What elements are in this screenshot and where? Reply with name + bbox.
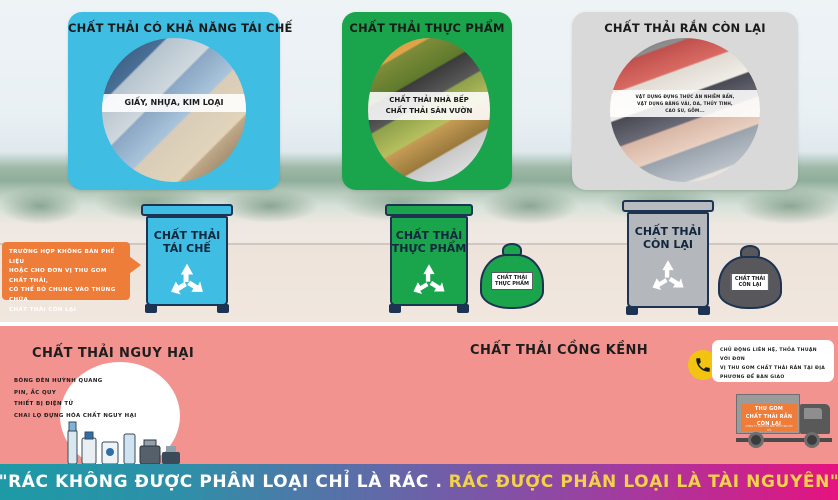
bin-food-wheel-left — [389, 304, 401, 313]
hazardous-title: CHẤT THẢI NGUY HẠI — [32, 346, 194, 361]
bin-recyclable: CHẤT THẢI TÁI CHẾ — [141, 204, 233, 308]
residual-photo-caption-line3: CAO SU, GỖM... — [610, 107, 760, 114]
collection-truck: THU GOM CHẤT THẢI RẮN CÒN LẠI CÔNG TY DỊ… — [736, 392, 836, 454]
bin-food-wheel-right — [457, 304, 469, 313]
recycle-icon — [648, 259, 688, 295]
bin-recyclable-body: CHẤT THẢI TÁI CHẾ — [146, 216, 228, 306]
recycle-icon — [409, 263, 449, 299]
food-waste-photo: CHẤT THẢI NHÀ BẾP CHẤT THẢI SÂN VƯỜN — [368, 38, 490, 182]
phone-icon — [694, 356, 712, 374]
hazardous-waste-illustration — [62, 412, 186, 470]
truck-cargo-box: THU GOM CHẤT THẢI RẮN CÒN LẠI CÔNG TY DỊ… — [736, 394, 800, 434]
bulky-waste-note: CHỦ ĐỘNG LIÊN HỆ, THỎA THUẬN VỚI ĐƠN VỊ … — [712, 340, 834, 382]
card-residual-title: CHẤT THẢI RẮN CÒN LẠI — [572, 21, 798, 35]
bulky-title: CHẤT THẢI CỒNG KỀNH — [470, 343, 648, 358]
hazardous-item: THIẾT BỊ ĐIỆN TỬ — [14, 399, 137, 411]
truck-cab — [800, 404, 830, 434]
callout-line-1: TRƯỜNG HỢP KHÔNG BÁN PHẾ LIỆU — [9, 248, 123, 267]
bulky-note-line3: PHƯƠNG ĐỂ BÀN GIAO — [720, 373, 828, 382]
truck-banner-line1: THU GOM — [742, 406, 796, 414]
bulky-note-line2: VỊ THU GOM CHẤT THẢI RẮN TẠI ĐỊA — [720, 364, 828, 373]
hazardous-item: PIN, ẮC QUY — [14, 388, 137, 400]
food-photo-caption-line1: CHẤT THẢI NHÀ BẾP — [368, 95, 490, 106]
slogan-part-1: "RÁC KHÔNG ĐƯỢC PHÂN LOẠI CHỈ LÀ RÁC . — [0, 472, 443, 492]
top-scene: CHẤT THẢI CÓ KHẢ NĂNG TÁI CHẾ GIẤY, NHỰA… — [0, 0, 838, 322]
residual-waste-photo: VẬT DỤNG ĐỰNG THỨC ĂN NHIỄM BẨN, VẬT DỤN… — [610, 38, 760, 182]
bin-residual-body: CHẤT THẢI CÒN LẠI — [627, 212, 709, 308]
callout-recyclable-note: TRƯỜNG HỢP KHÔNG BÁN PHẾ LIỆU HOẶC CHO Đ… — [2, 242, 130, 300]
truck-wheel-rear — [748, 432, 764, 448]
bin-residual-label: CHẤT THẢI CÒN LẠI — [635, 225, 701, 251]
bin-residual-lid — [622, 200, 714, 212]
bin-residual: CHẤT THẢI CÒN LẠI — [622, 200, 714, 310]
residual-photo-caption-line2: VẬT DỤNG BẰNG VẢI, DA, THỦY TINH, — [610, 100, 760, 107]
bin-food: CHẤT THẢI THỰC PHẨM — [385, 204, 473, 308]
bin-residual-wheel-left — [626, 306, 638, 315]
recyclable-photo-caption: GIẤY, NHỰA, KIM LOẠI — [102, 94, 246, 112]
bin-recyclable-lid — [141, 204, 233, 216]
callout-line-3: CÓ THỂ BỎ CHUNG VÀO THÙNG CHỨA — [9, 286, 123, 305]
bin-recyclable-wheel-left — [145, 304, 157, 313]
bin-recyclable-label: CHẤT THẢI TÁI CHẾ — [154, 229, 220, 255]
bag-residual: CHẤT THẢI CÒN LẠI — [718, 245, 782, 309]
truck-wheel-front — [804, 432, 820, 448]
bag-food-tag: CHẤT THẢI THỰC PHẨM — [491, 272, 533, 290]
food-photo-caption-line2: CHẤT THẢI SÂN VƯỜN — [368, 106, 490, 117]
bulky-note-line1: CHỦ ĐỘNG LIÊN HỆ, THỎA THUẬN VỚI ĐƠN — [720, 346, 828, 364]
bag-food: CHẤT THẢI THỰC PHẨM — [480, 243, 544, 309]
food-photo-caption: CHẤT THẢI NHÀ BẾP CHẤT THẢI SÂN VƯỜN — [368, 92, 490, 120]
waste-sorting-infographic: CHẤT THẢI CÓ KHẢ NĂNG TÁI CHẾ GIẤY, NHỰA… — [0, 0, 838, 500]
recyclable-waste-photo: GIẤY, NHỰA, KIM LOẠI — [102, 38, 246, 182]
slogan-banner: "RÁC KHÔNG ĐƯỢC PHÂN LOẠI CHỈ LÀ RÁC . R… — [0, 464, 838, 500]
truck-subline: CÔNG TY DỊCH VỤ MÔI TRƯỜNG ĐÔ THỊ — [743, 425, 795, 433]
card-food-title: CHẤT THẢI THỰC PHẨM — [342, 21, 512, 35]
recycle-icon — [167, 263, 207, 299]
bin-food-label: CHẤT THẢI THỰC PHẨM — [392, 229, 467, 255]
bin-food-lid — [385, 204, 473, 216]
residual-photo-caption-line1: VẬT DỤNG ĐỰNG THỨC ĂN NHIỄM BẨN, — [610, 93, 760, 100]
residual-photo-caption: VẬT DỤNG ĐỰNG THỨC ĂN NHIỄM BẨN, VẬT DỤN… — [610, 90, 760, 117]
bin-recyclable-wheel-right — [217, 304, 229, 313]
card-recyclable-title: CHẤT THẢI CÓ KHẢ NĂNG TÁI CHẾ — [68, 21, 280, 35]
slogan-part-2: RÁC ĐƯỢC PHÂN LOẠI LÀ TÀI NGUYÊN" — [449, 472, 838, 492]
callout-line-2: HOẶC CHO ĐƠN VỊ THU GOM CHẤT THẢI, — [9, 267, 123, 286]
bin-food-body: CHẤT THẢI THỰC PHẨM — [390, 216, 468, 306]
bin-residual-wheel-right — [698, 306, 710, 315]
hazardous-item: BÓNG ĐÈN HUỲNH QUANG — [14, 376, 137, 388]
callout-line-4: CHẤT THẢI CÒN LẠI — [9, 306, 123, 316]
bag-residual-tag: CHẤT THẢI CÒN LẠI — [731, 273, 769, 291]
